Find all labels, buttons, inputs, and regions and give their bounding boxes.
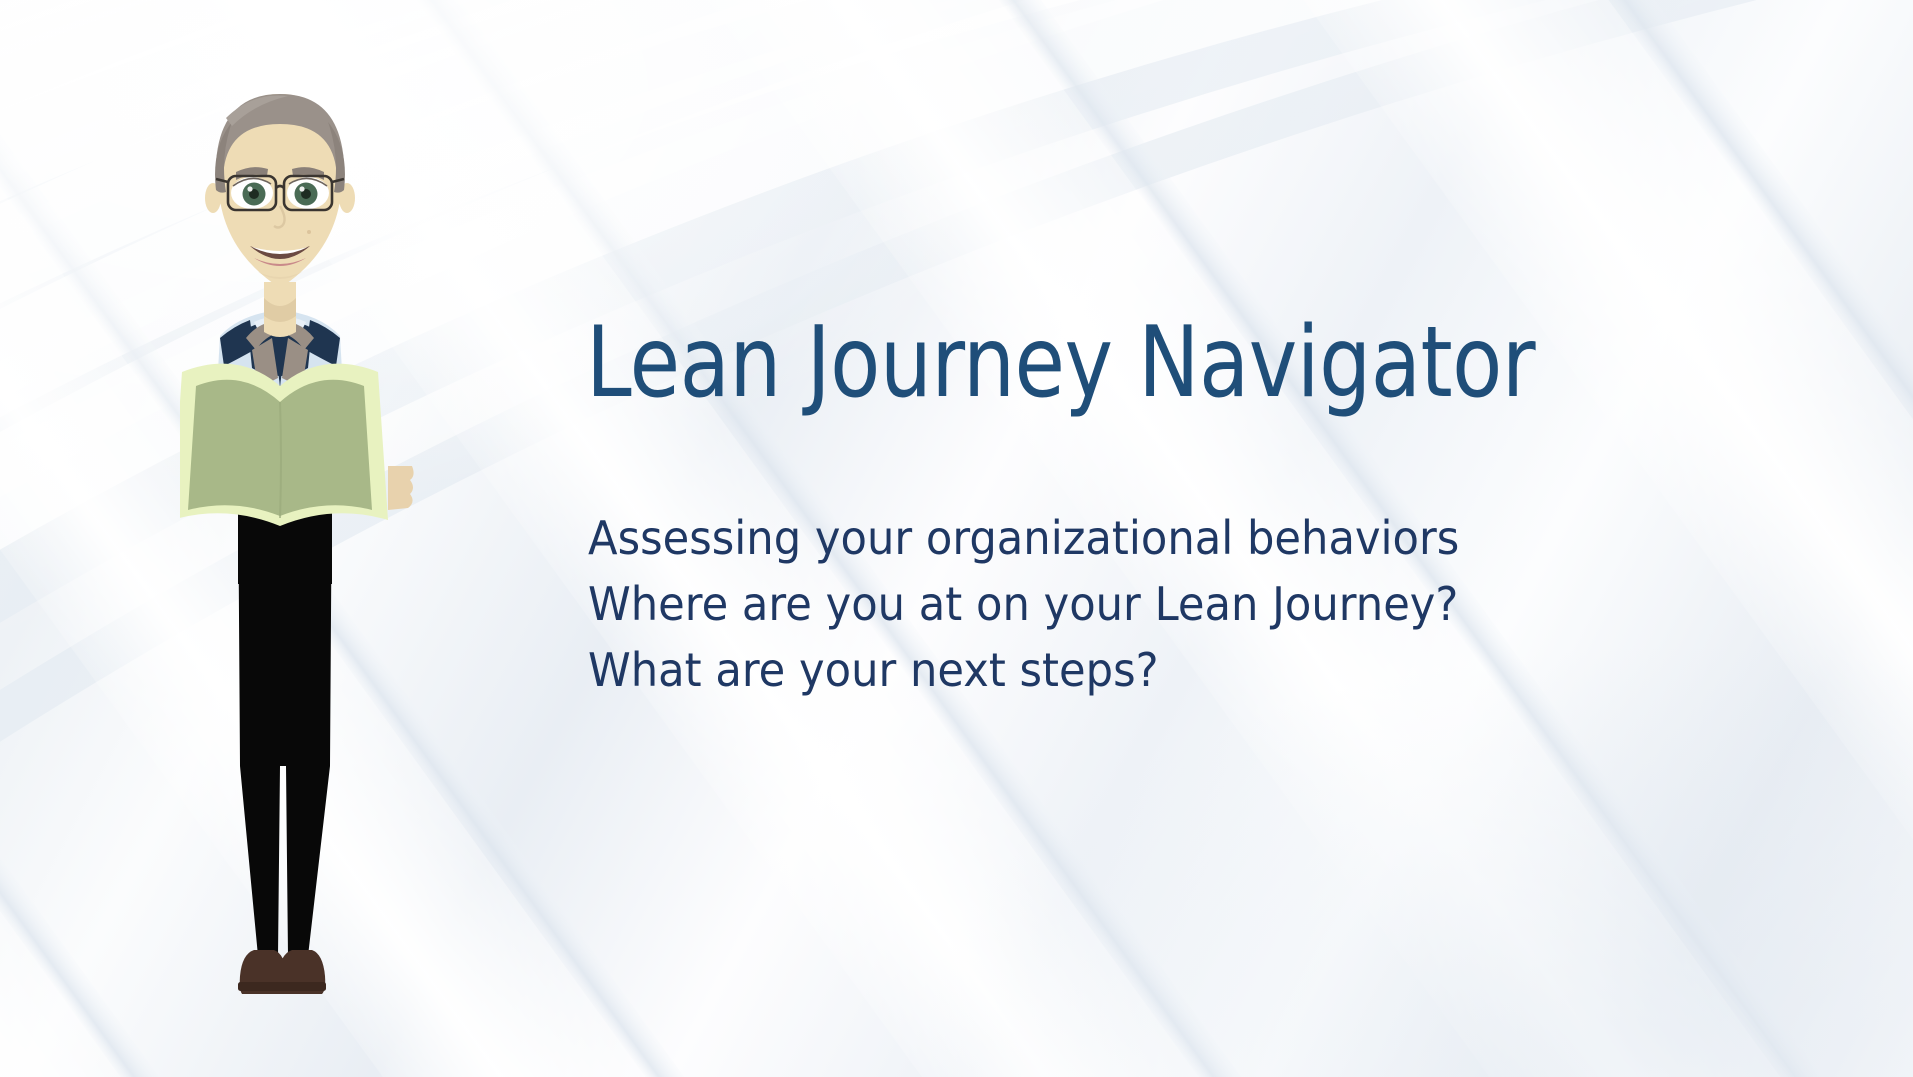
avatar-pants [238, 464, 332, 956]
avatar-neck [264, 282, 296, 337]
subtitle-line-3: What are your next steps? [588, 637, 1459, 703]
avatar-head [205, 94, 355, 288]
open-book [180, 364, 388, 526]
avatar-artwork [180, 66, 420, 1036]
subtitle-line-2: Where are you at on your Lean Journey? [588, 571, 1459, 637]
page-title: Lean Journey Navigator [586, 314, 1535, 412]
slide-canvas: Lean Journey Navigator Assessing your or… [0, 0, 1913, 1077]
subtitle-block: Assessing your organizational behaviors … [588, 505, 1459, 703]
avatar-shoes [238, 950, 326, 994]
subtitle-line-1: Assessing your organizational behaviors [588, 505, 1459, 571]
navigator-avatar [180, 66, 420, 1036]
